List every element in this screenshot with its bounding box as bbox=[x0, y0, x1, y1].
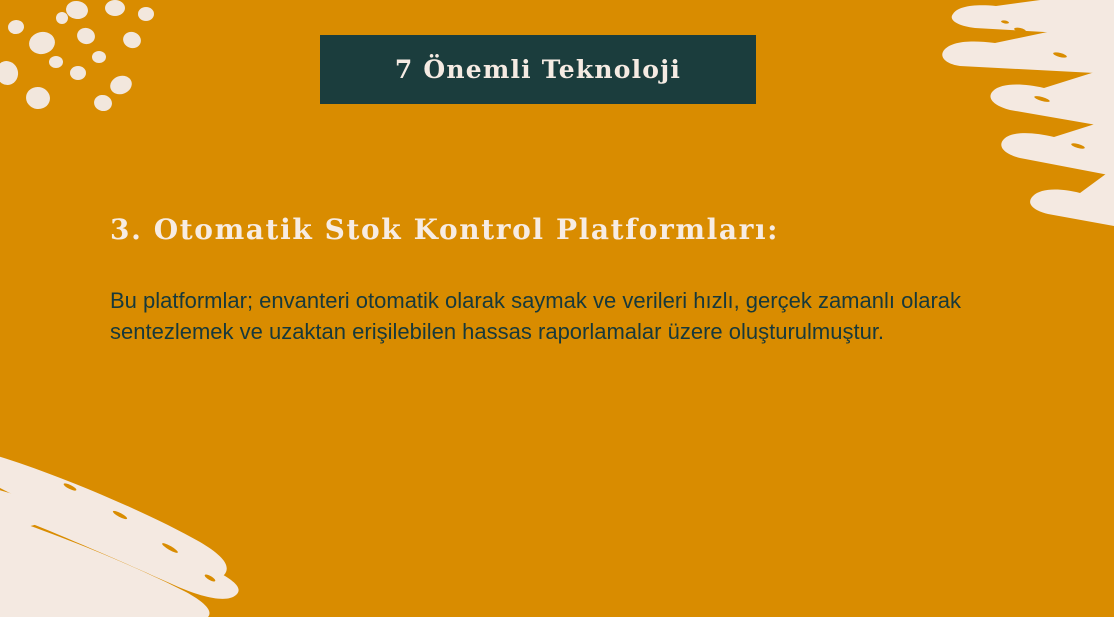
slide-content: 3. Otomatik Stok Kontrol Platformları: B… bbox=[110, 213, 1010, 347]
slide-canvas: 7 Önemli Teknoloji 3. Otomatik Stok Kont… bbox=[0, 0, 1114, 617]
slide-title-bar: 7 Önemli Teknoloji bbox=[320, 35, 756, 104]
section-paragraph: Bu platformlar; envanteri otomatik olara… bbox=[110, 285, 1005, 347]
slide-title-text: 7 Önemli Teknoloji bbox=[395, 55, 681, 84]
section-heading: 3. Otomatik Stok Kontrol Platformları: bbox=[110, 213, 1010, 246]
